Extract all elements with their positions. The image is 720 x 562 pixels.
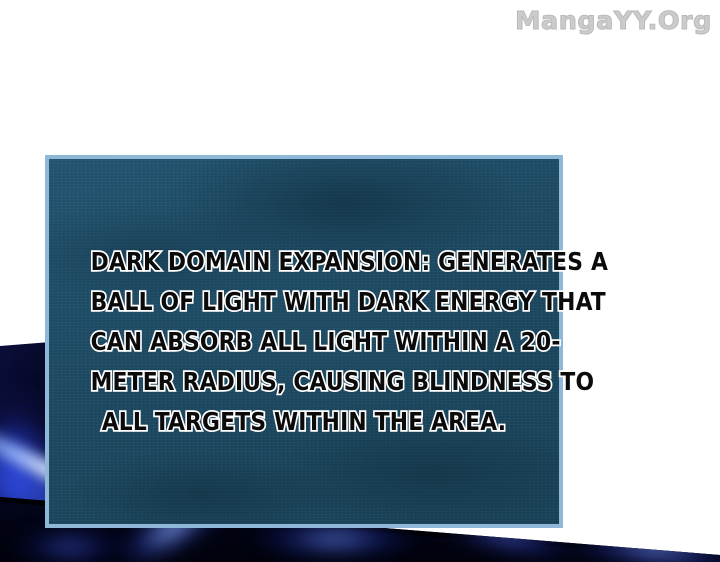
energy-wisp bbox=[10, 527, 130, 562]
panel-text-line: Dark Domain Expansion: Generates a bbox=[91, 242, 518, 282]
energy-wisp bbox=[558, 515, 720, 562]
site-watermark: MangaYY.Org bbox=[515, 6, 712, 35]
panel-text-line: all targets within the area. bbox=[91, 402, 518, 442]
info-panel: Dark Domain Expansion: Generates a ball … bbox=[45, 155, 563, 528]
panel-text-line: ball of light with dark energy that bbox=[91, 282, 518, 322]
panel-description-text: Dark Domain Expansion: Generates a ball … bbox=[91, 242, 518, 442]
panel-text-line: can absorb all light within a 20- bbox=[91, 322, 518, 362]
comic-page: MangaYY.Org Dark Domain Expansion: Gener… bbox=[0, 0, 720, 562]
panel-text-line: meter radius, causing blindness to bbox=[91, 362, 518, 402]
